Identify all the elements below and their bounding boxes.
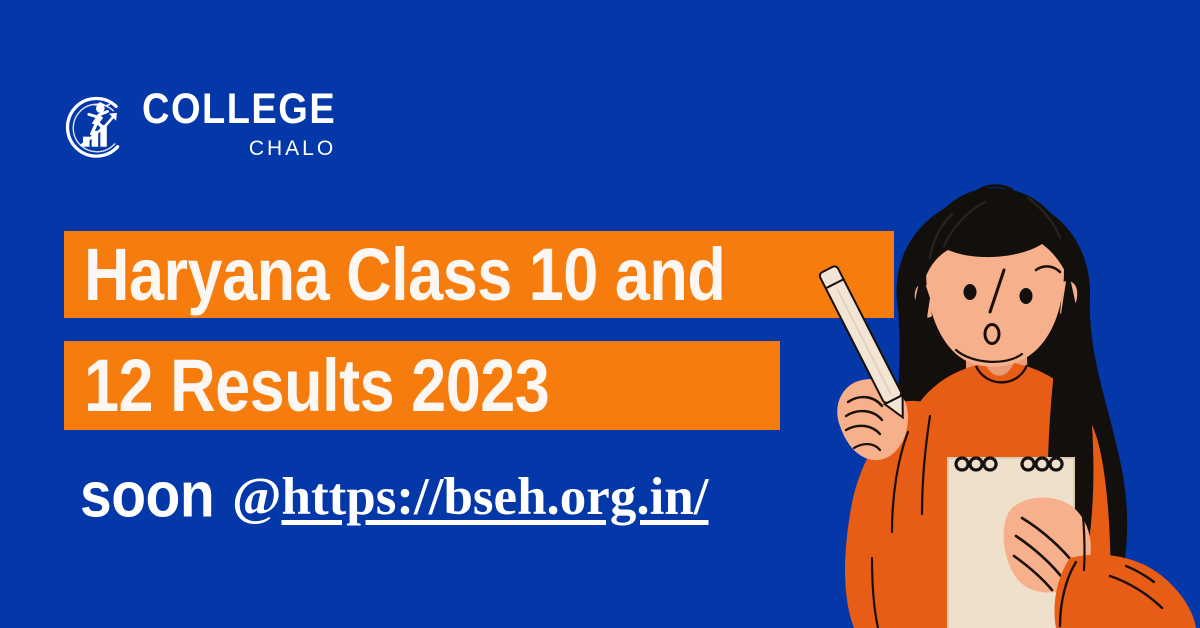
headline-band-line2: 12 Results 2023 [64, 341, 780, 430]
brand-name-primary: COLLEGE [142, 88, 336, 131]
graduate-running-bar-chart-icon [60, 92, 132, 164]
headline-line2-text: 12 Results 2023 [84, 343, 549, 428]
result-website-link[interactable]: https://bseh.org.in/ [281, 467, 708, 527]
brand-name-secondary: CHALO [249, 138, 336, 159]
promo-banner: COLLEGE CHALO Haryana Class 10 and 12 Re… [0, 0, 1200, 628]
brand-logo[interactable]: COLLEGE CHALO [60, 88, 310, 168]
student-with-pencil-and-notepad-illustration [780, 158, 1200, 628]
brand-wordmark: COLLEGE CHALO [142, 93, 336, 163]
headline-line1-text: Haryana Class 10 and [84, 232, 725, 317]
at-symbol: @ [232, 467, 281, 527]
subline: soon @ https://bseh.org.in/ [80, 462, 709, 524]
subline-prefix: soon [80, 458, 214, 532]
headline-band-line1: Haryana Class 10 and [64, 231, 894, 318]
